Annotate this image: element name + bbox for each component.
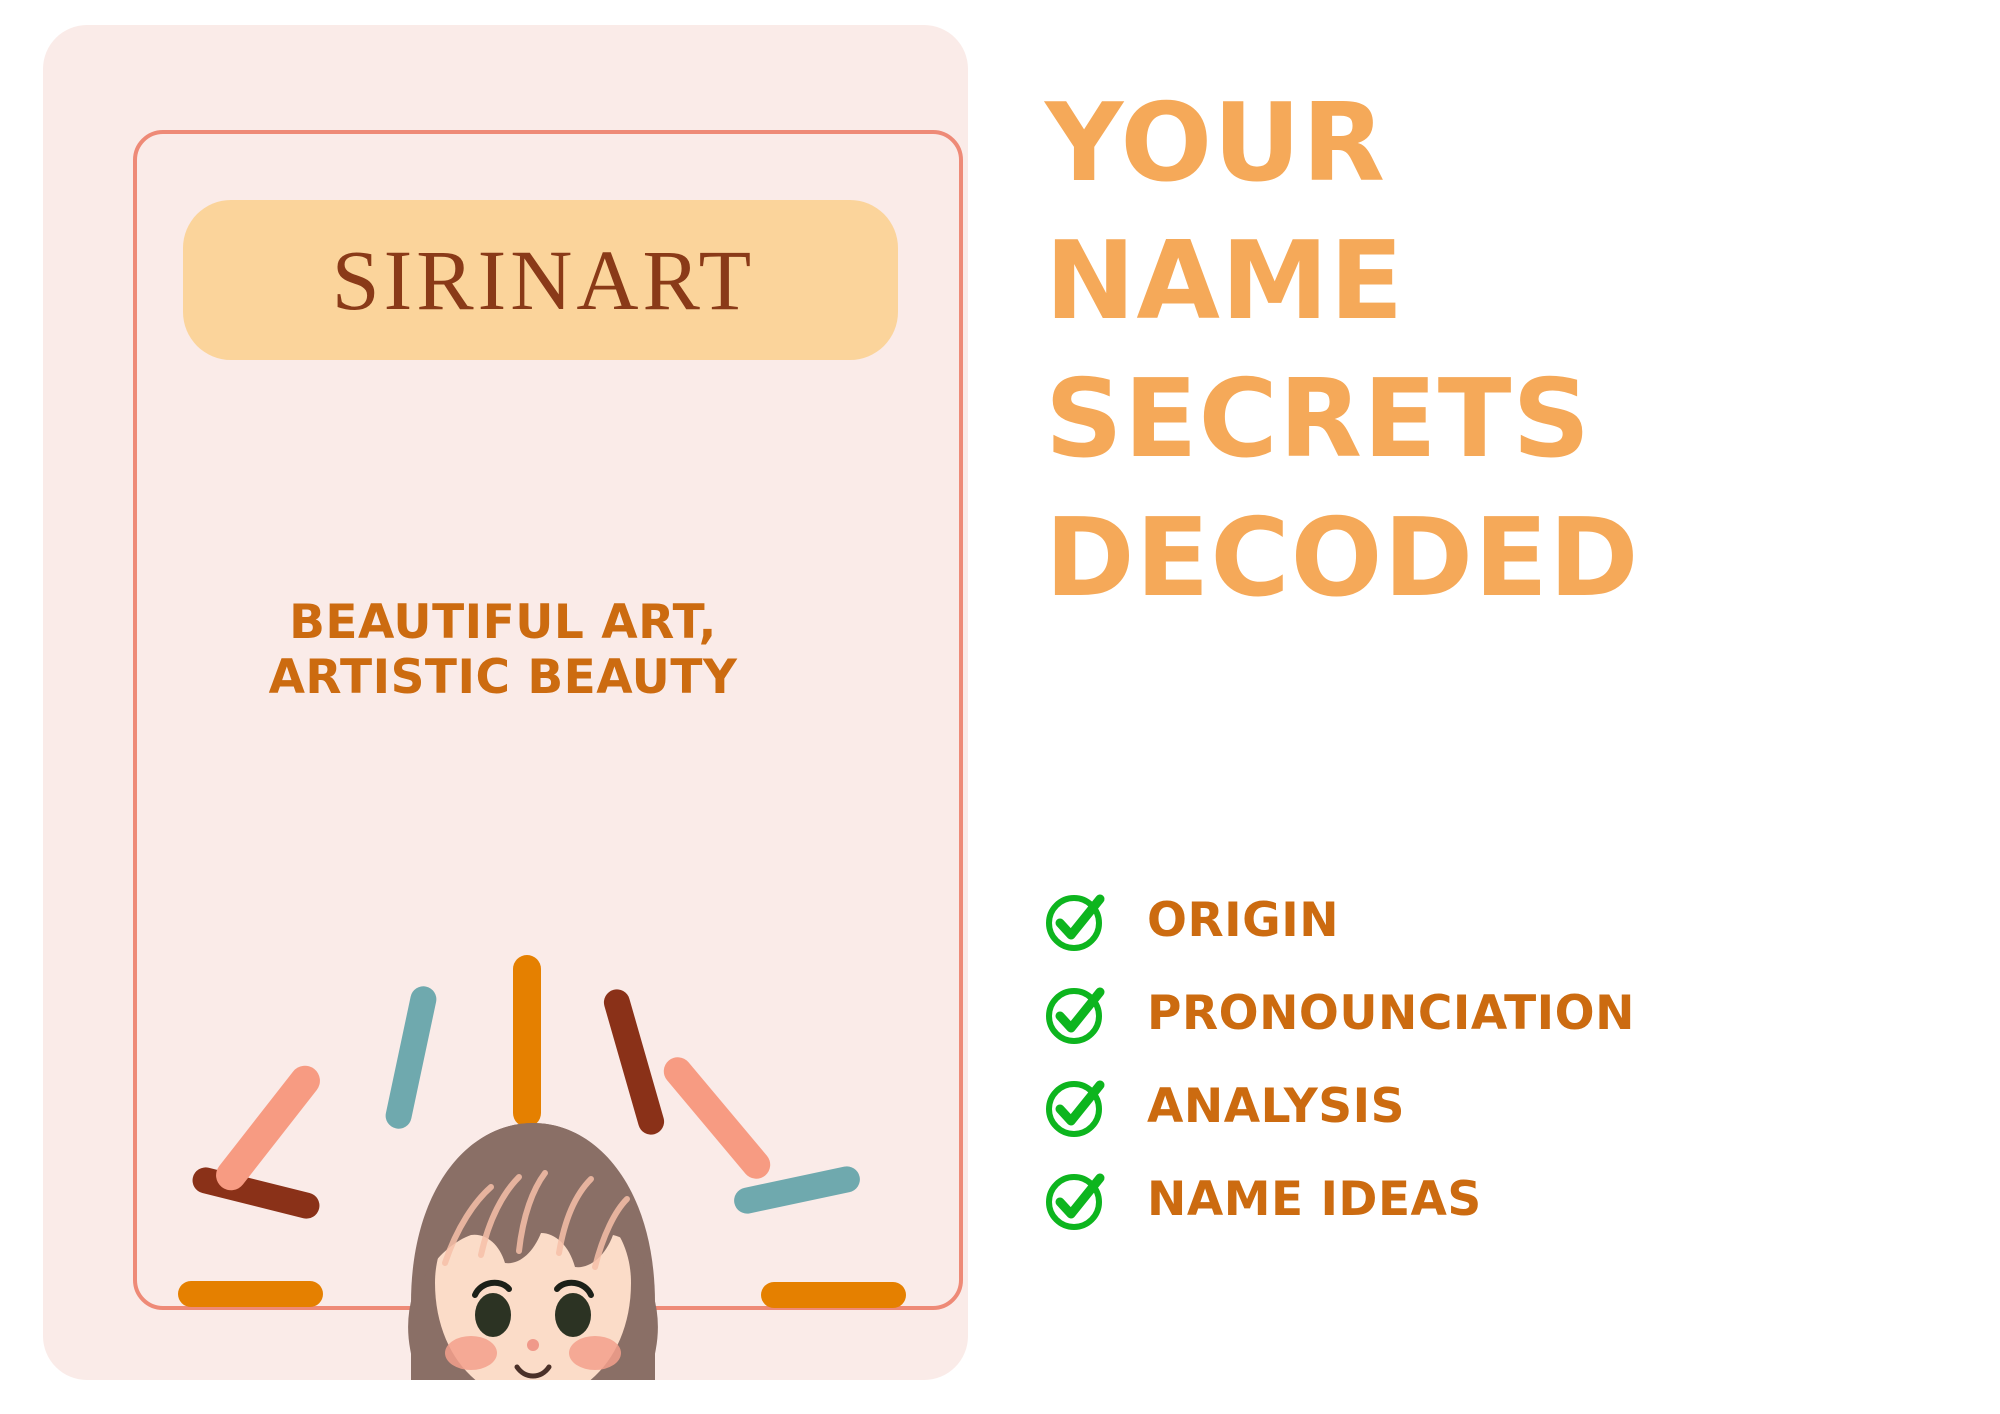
girl-illustration (383, 1103, 683, 1380)
headline-line-4: DECODED (1045, 490, 1865, 628)
checklist-item-label: PRONOUNCIATION (1147, 986, 1635, 1041)
ray-left-mid-salmon (210, 1060, 326, 1197)
ray-orange-top (513, 955, 541, 1127)
check-circle-icon (1040, 1071, 1112, 1143)
left-cheek (445, 1336, 497, 1370)
ray-left-bottom-orange (178, 1281, 323, 1307)
right-cheek (569, 1336, 621, 1370)
headline-line-1: YOUR (1045, 75, 1865, 213)
right-eye (555, 1293, 591, 1337)
headline-line-3: SECRETS (1045, 351, 1865, 489)
ray-left-lower-darkbrown (190, 1165, 322, 1222)
left-eye (475, 1293, 511, 1337)
check-circle-icon (1040, 1164, 1112, 1236)
checklist-item-label: ANALYSIS (1147, 1079, 1405, 1134)
checklist-item-pronounciation[interactable]: PRONOUNCIATION (1040, 971, 1890, 1056)
girl-svg (383, 1103, 683, 1380)
checklist-item-label: NAME IDEAS (1147, 1172, 1482, 1227)
headline-line-2: NAME (1045, 213, 1865, 351)
check-circle-icon (1040, 885, 1112, 957)
feature-checklist: ORIGINPRONOUNCIATIONANALYSISNAME IDEAS (1040, 878, 1890, 1250)
checklist-item-label: ORIGIN (1147, 893, 1339, 948)
nose (527, 1339, 539, 1351)
ray-orange-right-bottom (761, 1282, 906, 1308)
brand-card: SIRINART BEAUTIFUL ART, ARTISTIC BEAUTY (43, 25, 968, 1380)
checklist-item-analysis[interactable]: ANALYSIS (1040, 1064, 1890, 1149)
headline: YOURNAMESECRETSDECODED (1045, 75, 1865, 628)
checklist-item-name-ideas[interactable]: NAME IDEAS (1040, 1157, 1890, 1242)
checklist-item-origin[interactable]: ORIGIN (1040, 878, 1890, 963)
check-circle-icon (1040, 978, 1112, 1050)
poster-canvas: SIRINART BEAUTIFUL ART, ARTISTIC BEAUTY (0, 0, 2000, 1414)
